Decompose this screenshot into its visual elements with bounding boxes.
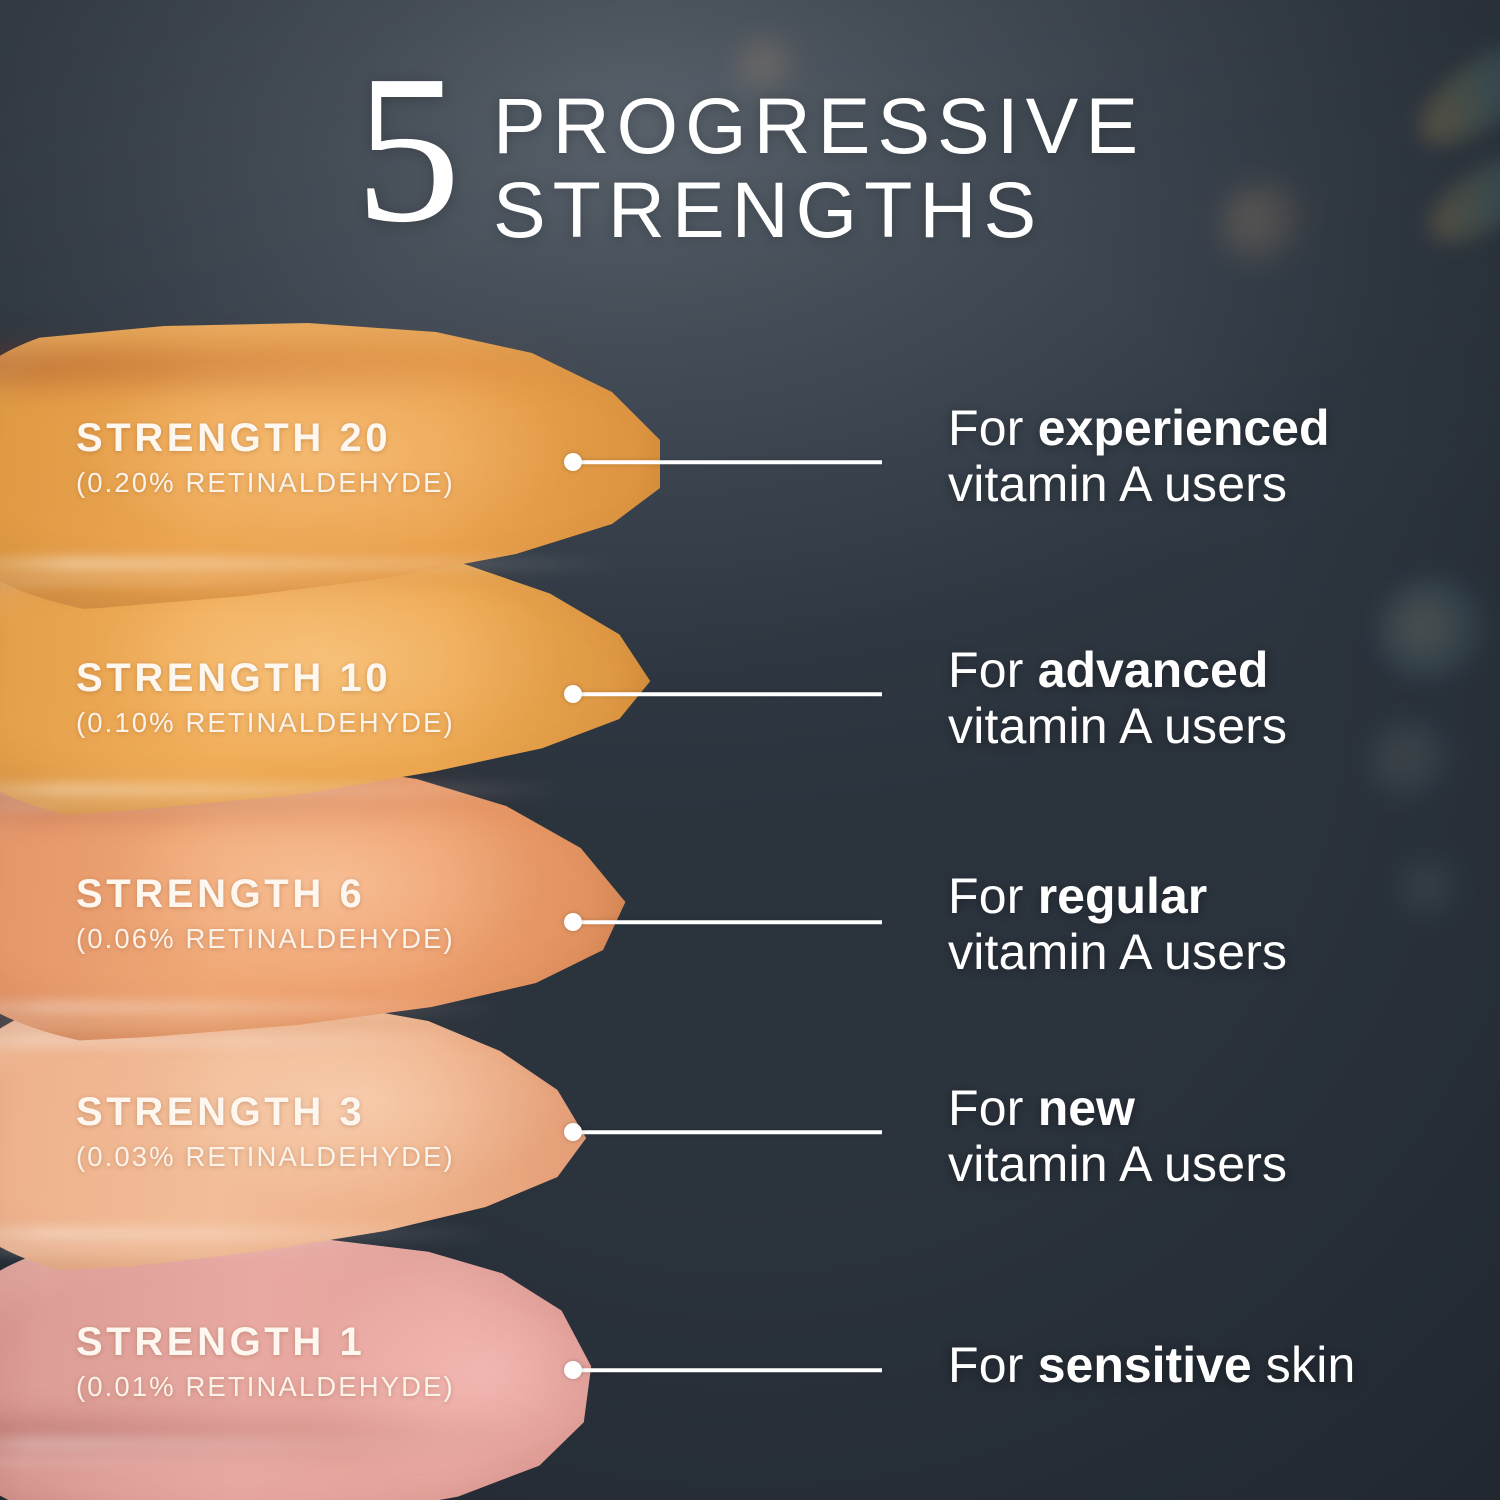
- product-infographic: 5 PROGRESSIVE STRENGTHS: [0, 0, 1500, 1500]
- cream-swatch-strength-20: [0, 320, 740, 620]
- cream-swatch-stack: [0, 300, 790, 1500]
